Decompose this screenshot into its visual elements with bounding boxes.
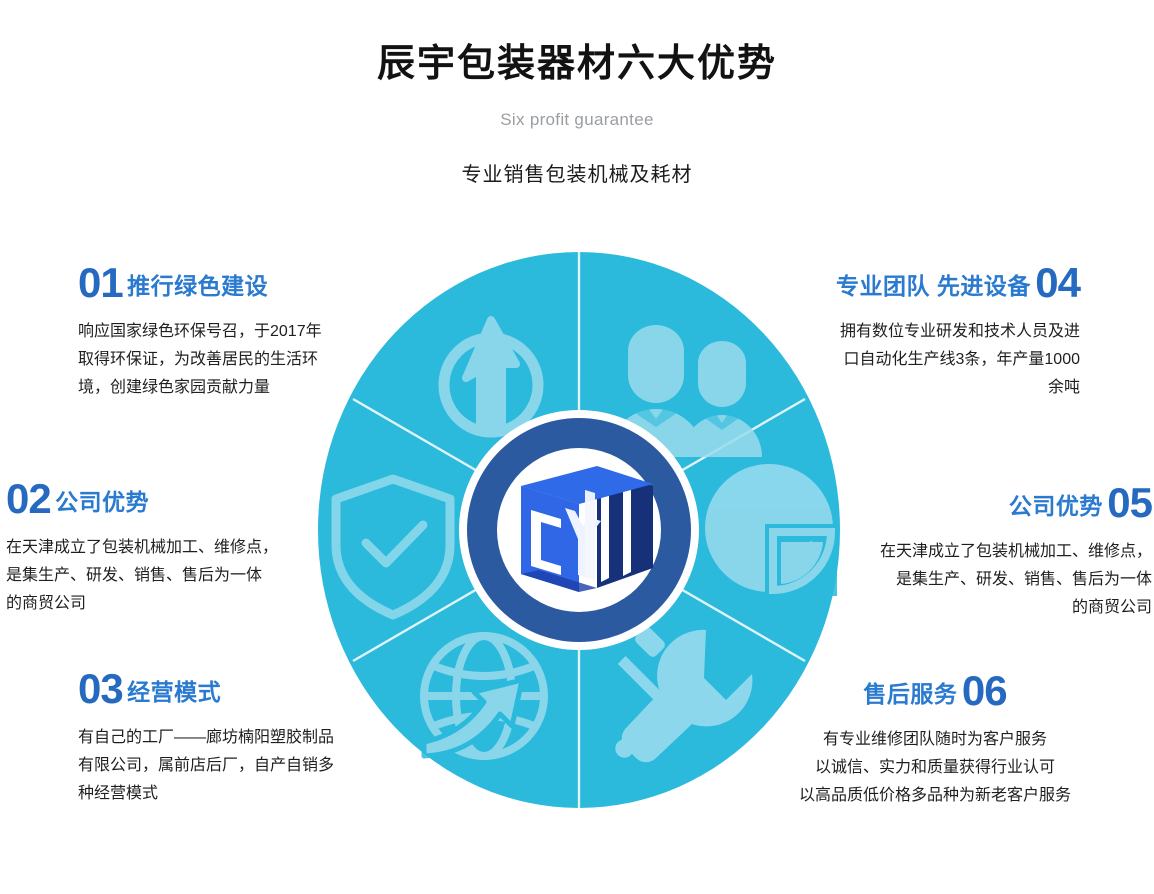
feature-number-06: 06 [962,667,1007,714]
feature-body-04: 拥有数位专业研发和技术人员及进 口自动化生产线3条，年产量1000 余吨 [780,318,1080,402]
feature-item-02: 02 公司优势 在天津成立了包装机械加工、维修点， 是集生产、研发、销售、售后为… [6,478,306,618]
feature-number-02: 02 [6,475,51,522]
feature-number-03: 03 [78,665,123,712]
subtitle-english-text: Six profit guarantee [478,110,675,129]
feature-body-line: 有自己的工厂——廊坊楠阳塑胶制品 [78,724,390,752]
feature-body-line: 有限公司，属前店后厂，自产自销多 [78,752,390,780]
feature-caption-02: 公司优势 [55,489,149,515]
feature-body-line: 以高品质低价格多品种为新老客户服务 [780,782,1090,810]
feature-item-01: 01 推行绿色建设 响应国家绿色环保号召，于2017年 取得环保证，为改善居民的… [78,262,378,402]
feature-caption-06: 售后服务 [863,681,957,707]
page-title: 辰宇包装器材六大优势 [0,38,1154,90]
feature-heading-03: 03 经营模式 [78,668,390,710]
feature-body-line: 拥有数位专业研发和技术人员及进 [780,318,1080,346]
feature-body-05: 在天津成立了包装机械加工、维修点， 是集生产、研发、销售、售后为一体 的商贸公司 [852,538,1152,622]
feature-item-05: 公司优势 05 在天津成立了包装机械加工、维修点， 是集生产、研发、销售、售后为… [852,482,1152,622]
six-segment-wheel [318,252,840,808]
feature-caption-05: 公司优势 [1009,493,1103,519]
feature-body-06: 有专业维修团队随时为客户服务 以诚信、实力和质量获得行业认可 以高品质低价格多品… [780,726,1090,810]
feature-number-01: 01 [78,259,123,306]
feature-body-03: 有自己的工厂——廊坊楠阳塑胶制品 有限公司，属前店后厂，自产自销多 种经营模式 [78,724,390,808]
feature-item-06: 售后服务 06 有专业维修团队随时为客户服务 以诚信、实力和质量获得行业认可 以… [780,670,1090,810]
feature-heading-01: 01 推行绿色建设 [78,262,378,304]
feature-body-line: 种经营模式 [78,780,390,808]
feature-body-01: 响应国家绿色环保号召，于2017年 取得环保证，为改善居民的生活环 境，创建绿色… [78,318,378,402]
feature-body-line: 在天津成立了包装机械加工、维修点， [852,538,1152,566]
feature-item-04: 专业团队 先进设备 04 拥有数位专业研发和技术人员及进 口自动化生产线3条，年… [780,262,1080,402]
feature-body-line: 是集生产、研发、销售、售后为一体 [852,566,1152,594]
feature-caption-03: 经营模式 [127,679,221,705]
feature-heading-06: 售后服务 06 [780,670,1090,712]
feature-body-line: 响应国家绿色环保号召，于2017年 [78,318,378,346]
feature-caption-04: 专业团队 先进设备 [836,273,1031,299]
feature-body-line: 是集生产、研发、销售、售后为一体 [6,562,306,590]
feature-body-line: 余吨 [780,374,1080,402]
feature-item-03: 03 经营模式 有自己的工厂——廊坊楠阳塑胶制品 有限公司，属前店后厂，自产自销… [78,668,390,808]
feature-body-line: 在天津成立了包装机械加工、维修点， [6,534,306,562]
feature-number-05: 05 [1107,479,1152,526]
feature-body-line: 境，创建绿色家园贡献力量 [78,374,378,402]
feature-body-line: 口自动化生产线3条，年产量1000 [780,346,1080,374]
feature-body-line: 的商贸公司 [6,590,306,618]
subtitle-chinese: 专业销售包装机械及耗材 [0,158,1154,187]
feature-body-line: 取得环保证，为改善居民的生活环 [78,346,378,374]
feature-body-line: 有专业维修团队随时为客户服务 [780,726,1090,754]
feature-heading-04: 专业团队 先进设备 04 [780,262,1080,304]
feature-body-line: 的商贸公司 [852,594,1152,622]
feature-body-line: 以诚信、实力和质量获得行业认可 [780,754,1090,782]
feature-heading-05: 公司优势 05 [852,482,1152,524]
feature-number-04: 04 [1035,259,1080,306]
package-box-logo [521,466,653,592]
infographic-page: 辰宇包装器材六大优势 Six profit guarantee 专业销售包装机械… [0,0,1154,894]
feature-body-02: 在天津成立了包装机械加工、维修点， 是集生产、研发、销售、售后为一体 的商贸公司 [6,534,306,618]
feature-caption-01: 推行绿色建设 [127,273,268,299]
subtitle-english: Six profit guarantee [0,110,1154,130]
feature-heading-02: 02 公司优势 [6,478,306,520]
